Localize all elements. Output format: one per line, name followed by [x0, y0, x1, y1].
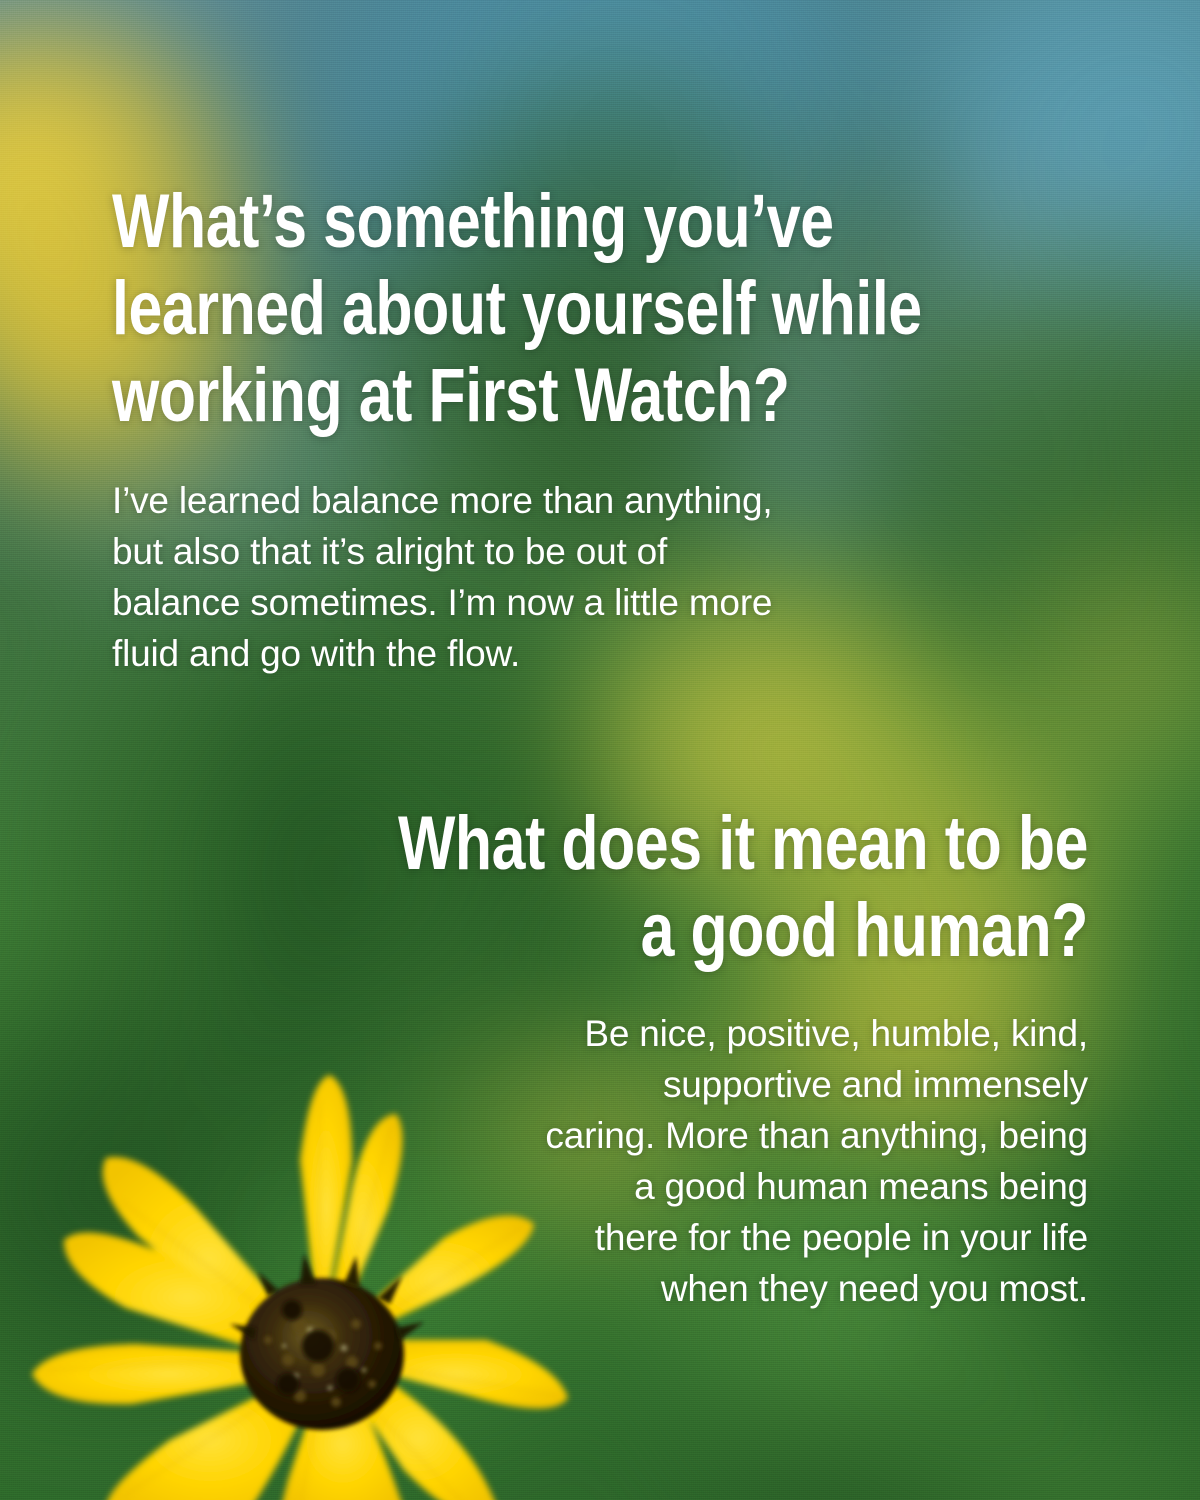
poster-text: What’s something you’ve learned about yo… [0, 0, 1200, 1500]
question-2-heading: What does it mean to be a good human? [288, 800, 1088, 974]
question-2-answer: Be nice, positive, humble, kind, support… [388, 1008, 1088, 1314]
question-1-heading: What’s something you’ve learned about yo… [112, 178, 1008, 439]
quote-poster: What’s something you’ve learned about yo… [0, 0, 1200, 1500]
question-1-answer: I’ve learned balance more than anything,… [112, 475, 912, 679]
